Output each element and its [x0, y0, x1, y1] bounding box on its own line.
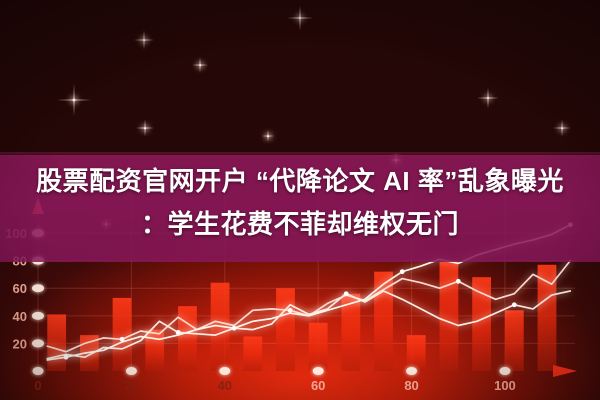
x-tick-marker	[406, 367, 417, 375]
y-tick-label: 40	[13, 309, 27, 324]
x-tick-label: 80	[404, 378, 418, 393]
data-point	[344, 291, 349, 296]
x-tick-marker	[33, 367, 44, 375]
x-tick-marker	[126, 367, 137, 375]
title-line-2: ：学生花费不菲却维权无门	[0, 203, 600, 246]
y-tick-marker	[32, 284, 44, 292]
y-tick-label: 60	[13, 281, 27, 296]
data-point	[400, 269, 405, 274]
page-title: 股票配资官网开户 “代降论文 AI 率”乱象曝光 ：学生花费不菲却维权无门	[0, 160, 600, 246]
bar	[276, 288, 295, 371]
data-point	[456, 279, 461, 284]
x-axis-arrow-icon	[553, 365, 577, 377]
x-tick-marker	[219, 367, 230, 375]
x-tick-label: 20	[124, 378, 138, 393]
bar	[47, 314, 66, 371]
promo-chart-image: 02040608010020406080100 股票配资官网开户 “代降论文 A…	[0, 0, 600, 400]
title-line-1: 股票配资官网开户 “代降论文 AI 率”乱象曝光	[36, 166, 564, 196]
y-tick-label: 20	[13, 336, 27, 351]
x-tick-label: 60	[311, 378, 325, 393]
bar	[243, 337, 262, 371]
x-tick-marker	[499, 367, 510, 375]
y-tick-marker	[32, 339, 44, 347]
data-point	[512, 302, 517, 307]
x-tick-marker	[313, 367, 324, 375]
x-tick-label: 100	[494, 378, 516, 393]
bar	[178, 306, 197, 371]
bar	[440, 261, 459, 371]
x-tick-label: 40	[218, 378, 232, 393]
bar	[505, 310, 524, 371]
x-tick-label: 0	[34, 378, 41, 393]
bar	[407, 335, 426, 371]
data-point	[232, 326, 237, 331]
bar	[309, 323, 328, 371]
y-tick-marker	[32, 312, 44, 320]
data-point	[64, 355, 69, 360]
